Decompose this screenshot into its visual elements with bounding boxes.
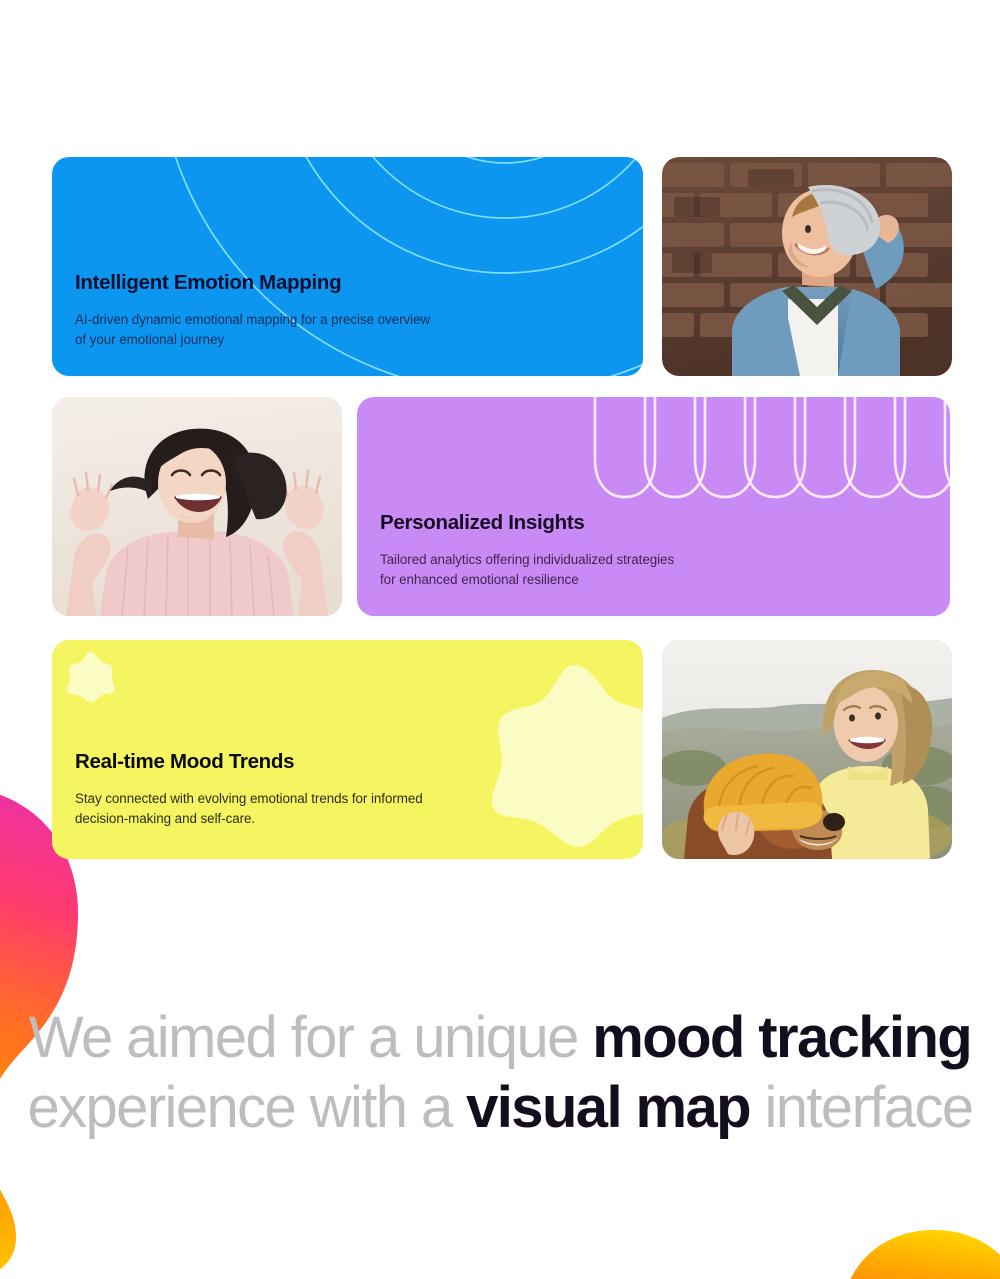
card-title: Personalized Insights xyxy=(380,511,930,536)
card-description: Tailored analytics offering individualiz… xyxy=(380,550,930,590)
photo-man-beanie-brick-wall xyxy=(662,157,952,376)
card-text-block: Real-time Mood Trends Stay connected wit… xyxy=(75,750,623,829)
headline-line-1: We aimed for a unique mood tracking xyxy=(0,1003,1000,1073)
headline-line-2: experience with a visual map interface xyxy=(0,1073,1000,1143)
headline-line-2-muted-prefix: experience with a xyxy=(27,1075,466,1140)
card-text-block: Personalized Insights Tailored analytics… xyxy=(380,511,930,590)
headline-line-1-strong: mood tracking xyxy=(592,1005,971,1070)
feature-card-intelligent-emotion-mapping[interactable]: Intelligent Emotion Mapping AI-driven dy… xyxy=(52,157,643,376)
page-root: Intelligent Emotion Mapping AI-driven dy… xyxy=(0,0,1000,1279)
card-title: Intelligent Emotion Mapping xyxy=(75,271,623,296)
photo-woman-laughing-pink-sweater xyxy=(52,397,342,616)
page-headline: We aimed for a unique mood tracking expe… xyxy=(0,1003,1000,1143)
card-title: Real-time Mood Trends xyxy=(75,750,623,775)
feature-card-personalized-insights[interactable]: Personalized Insights Tailored analytics… xyxy=(357,397,950,616)
headline-line-2-muted-suffix: interface xyxy=(750,1075,973,1140)
card-description: AI-driven dynamic emotional mapping for … xyxy=(75,310,623,350)
headline-line-1-muted: We aimed for a unique xyxy=(29,1005,592,1070)
photo-woman-dog-yellow-beanie xyxy=(662,640,952,859)
feature-card-real-time-mood-trends[interactable]: Real-time Mood Trends Stay connected wit… xyxy=(52,640,643,859)
headline-line-2-strong: visual map xyxy=(466,1075,750,1140)
gradient-blob-right xyxy=(838,1130,1000,1279)
card-text-block: Intelligent Emotion Mapping AI-driven dy… xyxy=(75,271,623,350)
card-description: Stay connected with evolving emotional t… xyxy=(75,789,623,829)
